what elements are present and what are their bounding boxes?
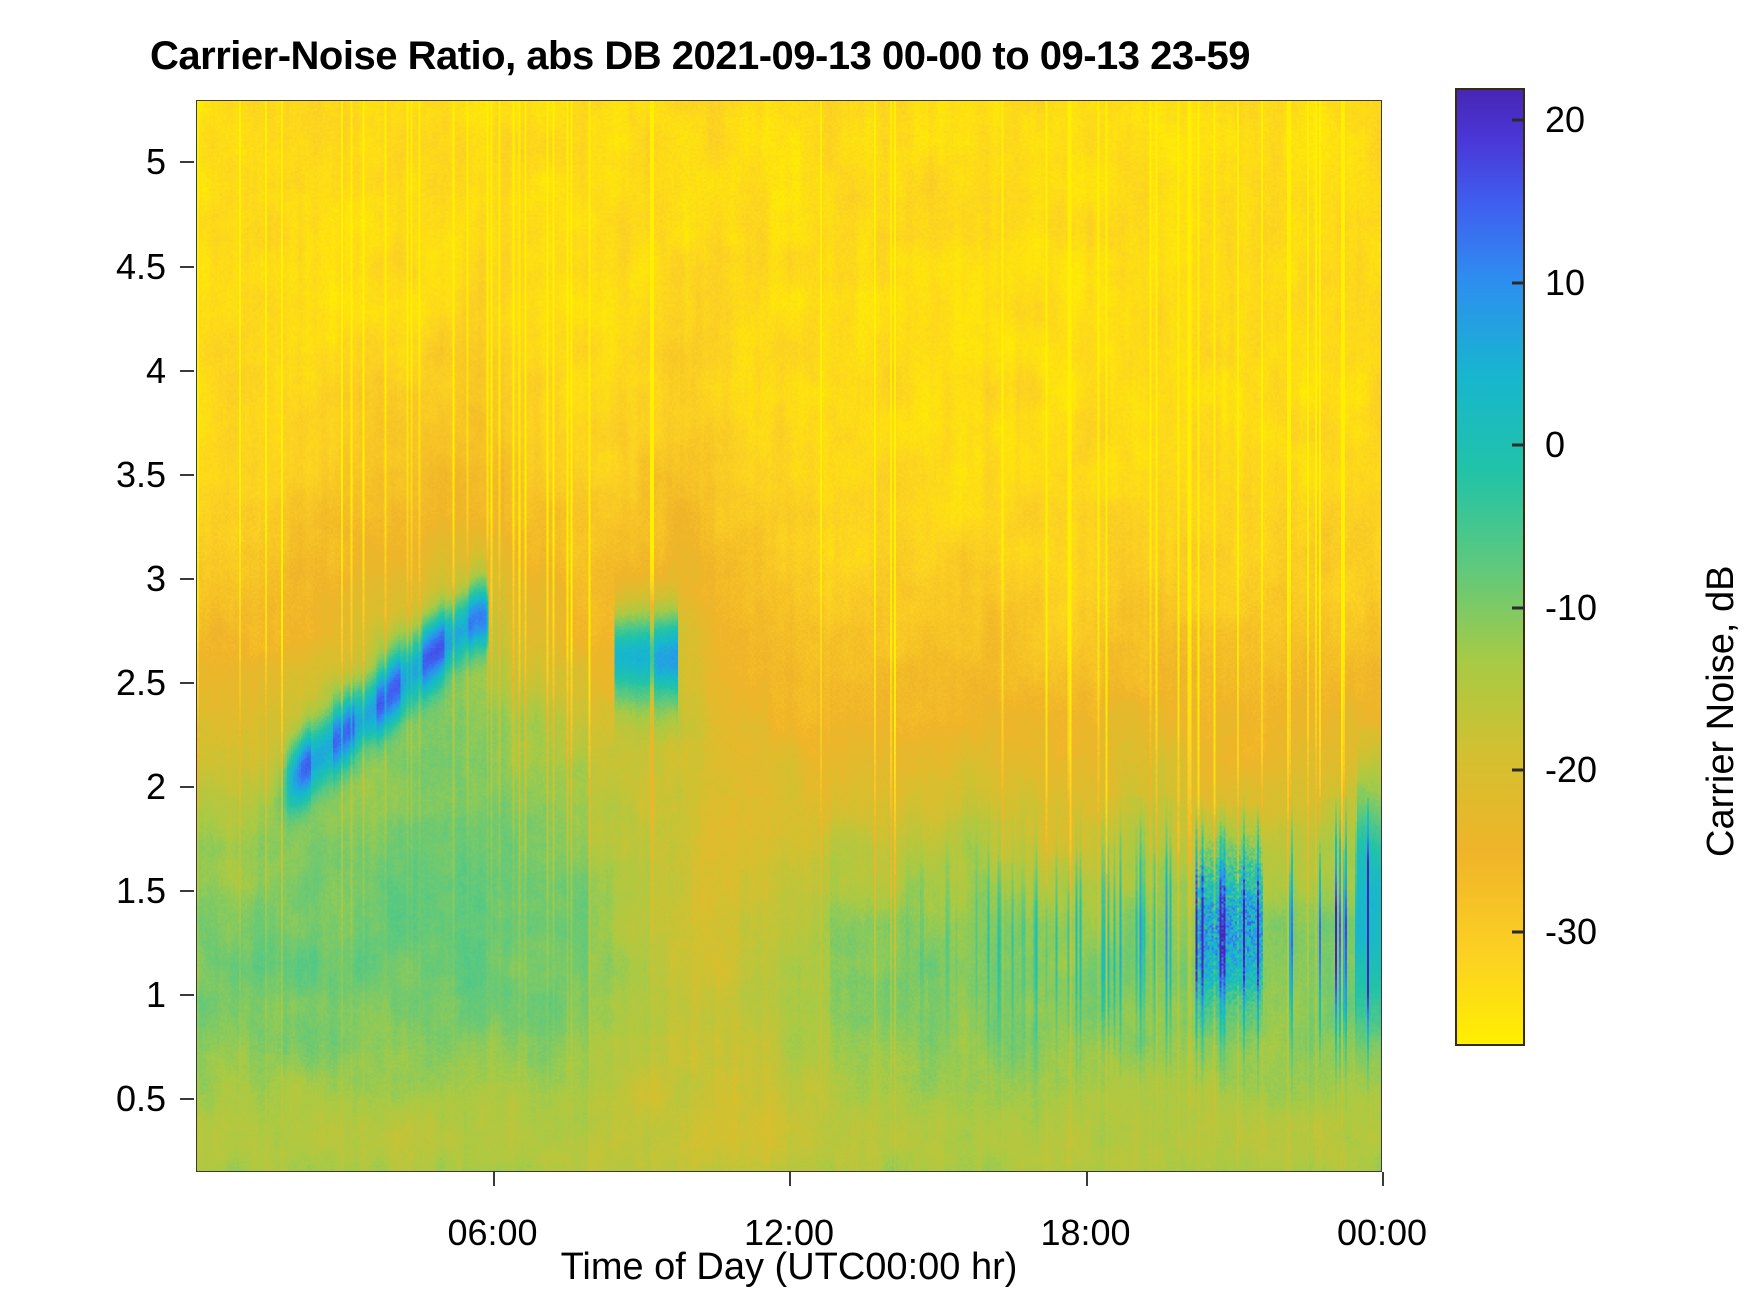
- colorbar-tick-mark: [1512, 119, 1525, 122]
- y-tick-label: 5: [0, 141, 166, 183]
- heatmap-image: [197, 101, 1381, 1171]
- x-axis-label: Time of Day (UTC00:00 hr): [196, 1246, 1382, 1289]
- colorbar-tick-label: 10: [1545, 262, 1585, 304]
- y-tick-mark: [180, 266, 194, 268]
- y-tick-label: 1: [0, 974, 166, 1016]
- figure-canvas: Carrier-Noise Ratio, abs DB 2021-09-13 0…: [0, 0, 1750, 1313]
- y-tick-label: 2: [0, 766, 166, 808]
- y-tick-mark: [180, 474, 194, 476]
- page-title: Carrier-Noise Ratio, abs DB 2021-09-13 0…: [0, 34, 1400, 79]
- colorbar-tick-mark: [1512, 606, 1525, 609]
- y-tick-label: 4: [0, 350, 166, 392]
- colorbar-tick-mark: [1512, 281, 1525, 284]
- colorbar-label: Carrier Noise, dB: [1700, 566, 1743, 857]
- y-tick-label: 4.5: [0, 246, 166, 288]
- colorbar-tick-mark: [1512, 768, 1525, 771]
- x-tick-mark: [789, 1172, 791, 1186]
- y-tick-mark: [180, 682, 194, 684]
- colorbar[interactable]: [1455, 88, 1525, 1046]
- colorbar-tick-label: -10: [1545, 587, 1597, 629]
- colorbar-tick-label: 20: [1545, 99, 1585, 141]
- y-tick-label: 0.5: [0, 1078, 166, 1120]
- y-tick-mark: [180, 370, 194, 372]
- y-tick-mark: [180, 161, 194, 163]
- colorbar-gradient: [1457, 90, 1523, 1044]
- colorbar-tick-mark: [1512, 931, 1525, 934]
- x-tick-mark: [493, 1172, 495, 1186]
- colorbar-tick-label: 0: [1545, 424, 1565, 466]
- colorbar-tick-label: -20: [1545, 749, 1597, 791]
- y-tick-label: 1.5: [0, 870, 166, 912]
- y-tick-mark: [180, 890, 194, 892]
- y-tick-label: 3.5: [0, 454, 166, 496]
- y-tick-label: 2.5: [0, 662, 166, 704]
- y-tick-mark: [180, 1098, 194, 1100]
- y-tick-label: 3: [0, 558, 166, 600]
- colorbar-tick-mark: [1512, 444, 1525, 447]
- y-tick-mark: [180, 994, 194, 996]
- colorbar-tick-label: -30: [1545, 911, 1597, 953]
- y-tick-mark: [180, 786, 194, 788]
- x-tick-mark: [1382, 1172, 1384, 1186]
- heatmap-plot-area[interactable]: [196, 100, 1382, 1172]
- y-tick-mark: [180, 578, 194, 580]
- x-tick-mark: [1086, 1172, 1088, 1186]
